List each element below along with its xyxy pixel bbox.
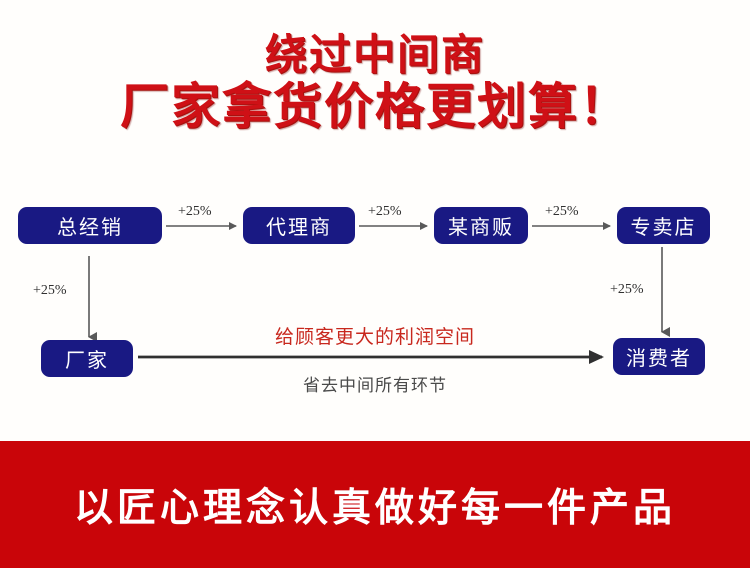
node-zhuanmaidian[interactable]: 专卖店 bbox=[617, 207, 710, 244]
markup-label-zongjingxiao-to-dailishang: +25% bbox=[178, 204, 212, 220]
node-dailishang[interactable]: 代理商 bbox=[243, 207, 355, 244]
markup-label-dailishang-to-moushangfan: +25% bbox=[368, 204, 402, 220]
direct-route-caption-below: 省去中间所有环节 bbox=[0, 371, 750, 396]
markup-label-moushangfan-to-zhuanmaidian: +25% bbox=[545, 204, 579, 220]
markup-label-changjia-to-zongjingxiao: +25% bbox=[33, 283, 67, 299]
direct-route-caption-above: 给顾客更大的利润空间 bbox=[0, 322, 750, 349]
node-zongjingxiao[interactable]: 总经销 bbox=[18, 207, 162, 244]
distribution-chain-diagram: 总经销 代理商 某商贩 专卖店 厂家 消费者 +25% +25% +25% +2… bbox=[0, 180, 750, 410]
markup-label-zhuanmaidian-to-xiaofeizhe: +25% bbox=[610, 282, 644, 298]
bottom-slogan-text: 以匠心理念认真做好每一件产品 bbox=[74, 477, 676, 533]
node-moushangfan[interactable]: 某商贩 bbox=[434, 207, 528, 244]
poster-canvas: 绕过中间商 厂家拿货价格更划算！ bbox=[0, 0, 750, 568]
headline-line-2: 厂家拿货价格更划算！ bbox=[0, 82, 750, 131]
headline-line-1: 绕过中间商 bbox=[0, 34, 750, 76]
headline-block: 绕过中间商 厂家拿货价格更划算！ bbox=[0, 34, 750, 131]
bottom-slogan-banner: 以匠心理念认真做好每一件产品 bbox=[0, 441, 750, 568]
